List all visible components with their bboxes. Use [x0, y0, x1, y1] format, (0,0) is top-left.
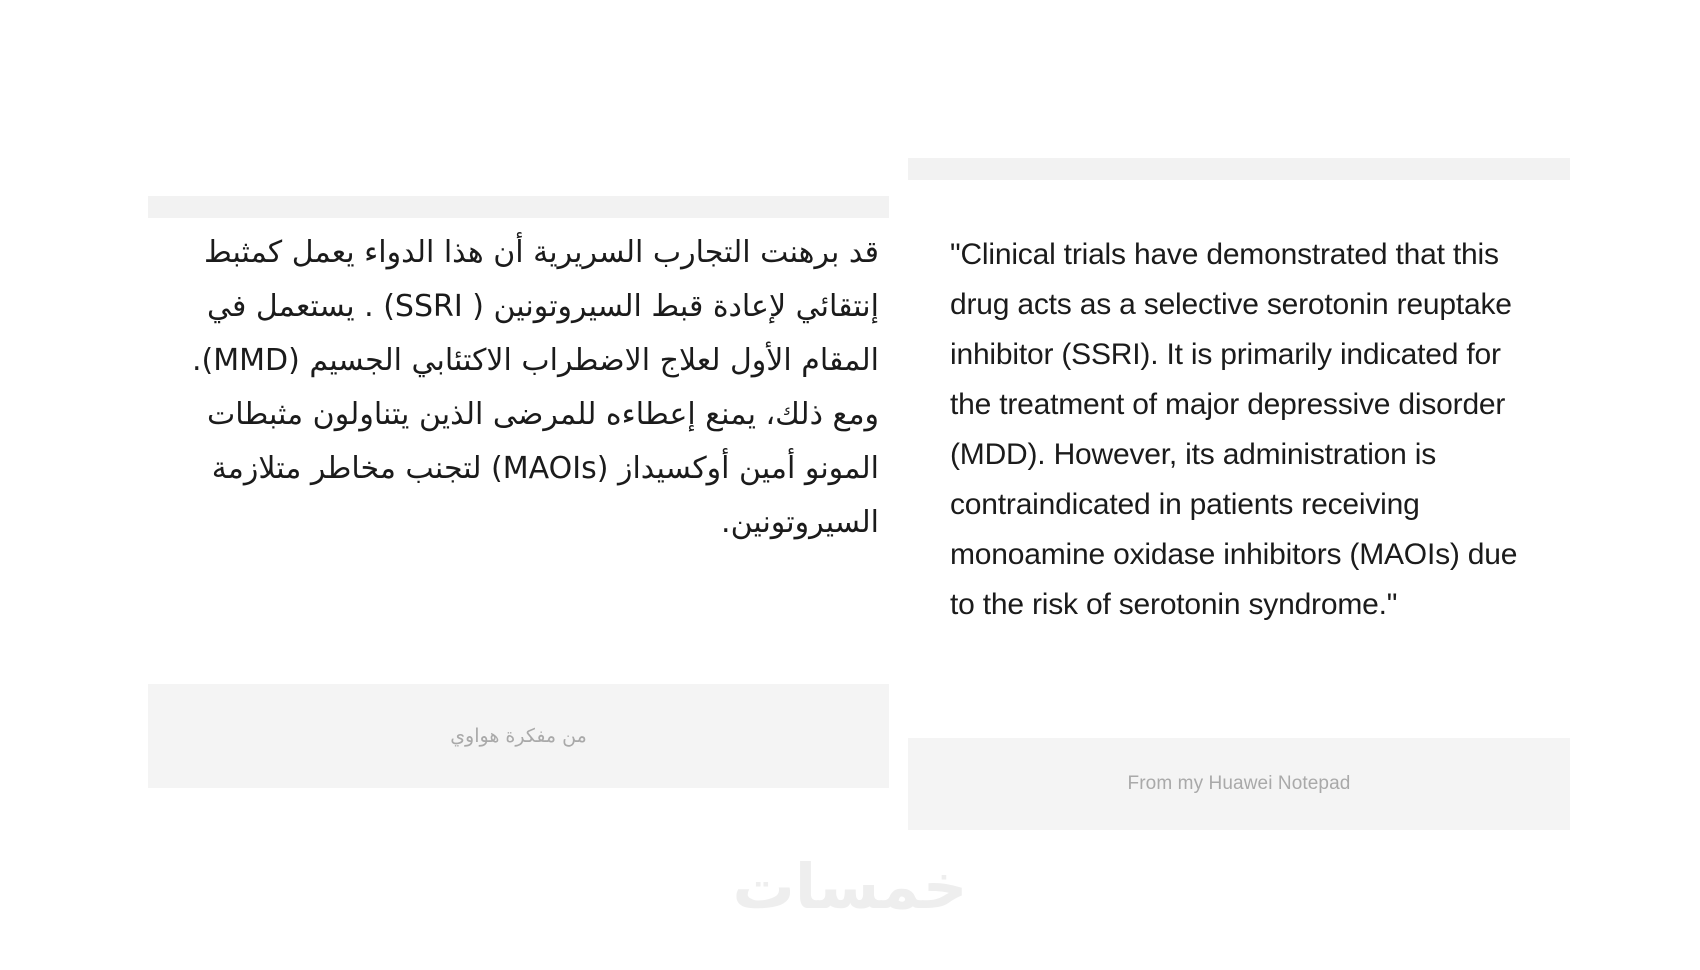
arabic-note-paragraph-2: ومع ذلك، يمنع إعطاءه للمرضى الذين يتناول…	[158, 388, 879, 550]
arabic-note-body: قد برهنت التجارب السريرية أن هذا الدواء …	[148, 226, 889, 550]
english-note-footer-text: From my Huawei Notepad	[1128, 773, 1351, 795]
watermark-text: خمسات	[733, 856, 968, 918]
arabic-note-card: قد برهنت التجارب السريرية أن هذا الدواء …	[148, 196, 889, 658]
english-note-header-strip	[908, 158, 1570, 180]
english-note-card: "Clinical trials have demonstrated that …	[908, 158, 1570, 714]
english-note-paragraph-1: "Clinical trials have demonstrated that …	[950, 230, 1528, 630]
arabic-note-footer-text: من مفكرة هواوي	[450, 725, 587, 747]
arabic-note-header-strip	[148, 196, 889, 218]
arabic-note-paragraph-1: قد برهنت التجارب السريرية أن هذا الدواء …	[158, 226, 879, 388]
english-note-body: "Clinical trials have demonstrated that …	[908, 230, 1570, 630]
khamsat-watermark: خمسات	[0, 856, 1700, 918]
english-note-footer: From my Huawei Notepad	[908, 738, 1570, 830]
arabic-note-footer: من مفكرة هواوي	[148, 684, 889, 788]
screenshot-canvas: قد برهنت التجارب السريرية أن هذا الدواء …	[0, 0, 1700, 970]
